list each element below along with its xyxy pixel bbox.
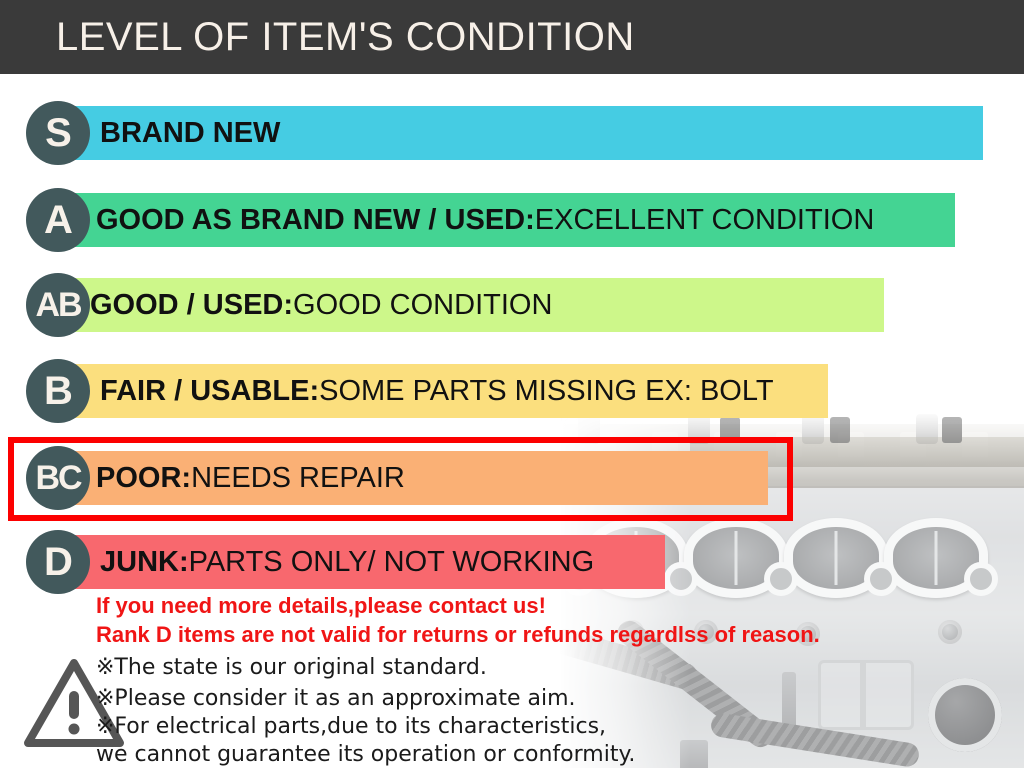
rank-label-ab: GOOD / USED: GOOD CONDITION (90, 273, 552, 337)
engine-stud (864, 562, 898, 596)
page-title: LEVEL OF ITEM'S CONDITION (56, 15, 635, 60)
condition-chart-page: LEVEL OF ITEM'S CONDITION SBRAND NEWAGOO… (0, 0, 1024, 768)
engine-nub (830, 417, 850, 443)
note-no-guarantee: we cannot guarantee its operation or con… (96, 742, 635, 767)
note-approximate-aim: ※Please consider it as an approximate ai… (96, 686, 576, 711)
rank-badge-d: D (26, 530, 90, 594)
engine-stud (764, 562, 798, 596)
rank-label-a: GOOD AS BRAND NEW / USED: EXCELLENT COND… (96, 188, 874, 252)
rank-badge-a: A (26, 188, 90, 252)
rank-label-bold: FAIR / USABLE: (100, 375, 319, 408)
rank-label-bold: GOOD AS BRAND NEW / USED: (96, 204, 535, 237)
rank-label-bold: BRAND NEW (100, 117, 280, 150)
rank-label-d: JUNK: PARTS ONLY/ NOT WORKING (100, 530, 594, 594)
engine-bolt (938, 620, 962, 644)
engine-round-cap (928, 678, 1002, 752)
bc-rank-highlight-box (8, 437, 793, 521)
rank-badge-b: B (26, 359, 90, 423)
rank-label-rest: PARTS ONLY/ NOT WORKING (189, 546, 595, 579)
note-original-standard: ※The state is our original standard. (96, 655, 487, 680)
note-rank-d-policy: Rank D items are not valid for returns o… (96, 622, 820, 648)
rank-badge-ab: AB (26, 273, 90, 337)
engine-panel-divider (860, 660, 866, 730)
rank-label-bold: JUNK: (100, 546, 189, 579)
note-contact-us: If you need more details,please contact … (96, 593, 546, 619)
rank-label-rest: EXCELLENT CONDITION (535, 204, 874, 237)
note-electrical-parts: ※For electrical parts,due to its charact… (96, 714, 606, 739)
rank-badge-s: S (26, 101, 90, 165)
rank-label-rest: GOOD CONDITION (293, 289, 552, 322)
rank-label-bold: GOOD / USED: (90, 289, 293, 322)
engine-stud (964, 562, 998, 596)
engine-panel (818, 660, 914, 730)
rank-label-s: BRAND NEW (100, 101, 280, 165)
rank-label-b: FAIR / USABLE: SOME PARTS MISSING EX: BO… (100, 359, 774, 423)
engine-nub (942, 417, 962, 443)
rank-label-rest: SOME PARTS MISSING EX: BOLT (319, 375, 773, 408)
